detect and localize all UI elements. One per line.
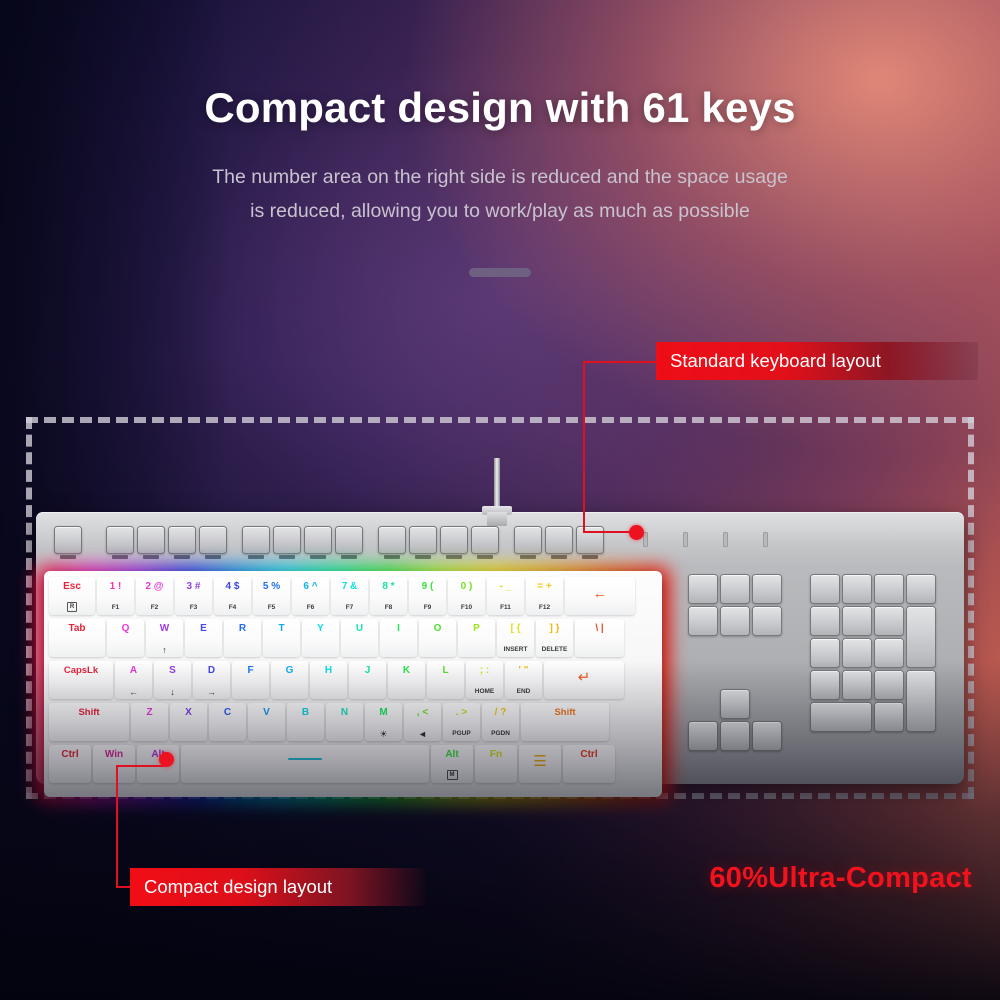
key-sublabel-glyph: ↓	[154, 687, 191, 697]
compact-keyboard: EscR1 !F12 @F23 #F34 $F45 %F56 ^F67 &F78…	[44, 571, 662, 797]
key-label: 3 #	[175, 581, 212, 592]
key-l[interactable]: L	[427, 661, 464, 699]
full-size-key	[810, 606, 840, 636]
full-size-key	[168, 526, 196, 554]
key-a[interactable]: A←	[115, 661, 152, 699]
key-sublabel: F4	[214, 604, 251, 612]
leader-compact-horizontal-2	[116, 765, 164, 767]
key-alt[interactable]: Alt	[137, 745, 179, 783]
key-glyph: ←	[565, 586, 635, 602]
key-label: Win	[93, 749, 135, 760]
key-stem	[582, 555, 599, 559]
key-[interactable]: / ?PGDN	[482, 703, 519, 741]
key-sublabel: F10	[448, 604, 485, 612]
key-label: ] }	[536, 623, 573, 634]
key-ctrl[interactable]: Ctrl	[563, 745, 615, 783]
key-label: T	[263, 623, 300, 634]
key-label: V	[248, 707, 285, 718]
full-size-key	[720, 689, 750, 719]
key-stem	[310, 555, 327, 559]
full-size-key	[842, 606, 872, 636]
key-3[interactable]: 3 #F3	[175, 577, 212, 615]
full-size-key	[688, 721, 718, 751]
key-label: S	[154, 665, 191, 676]
full-size-key	[810, 638, 840, 668]
full-size-key	[752, 721, 782, 751]
key-label: 2 @	[136, 581, 173, 592]
key-stem	[415, 555, 432, 559]
key-stem	[477, 555, 494, 559]
key-sublabel: R	[49, 602, 95, 612]
full-size-key	[273, 526, 301, 554]
key-shift[interactable]: Shift	[521, 703, 609, 741]
key-sublabel: F1	[97, 604, 134, 612]
full-size-key	[54, 526, 82, 554]
key-label: 9 (	[409, 581, 446, 592]
key-m[interactable]: M☀	[365, 703, 402, 741]
key-8[interactable]: 8 *F8	[370, 577, 407, 615]
full-size-key	[440, 526, 468, 554]
keyboard-row: CapsLkA←S↓D→FGHJKL; :HOME' "END↵	[49, 661, 657, 701]
key-b[interactable]: B	[287, 703, 324, 741]
full-size-key	[810, 670, 840, 700]
key-sublabel-glyph: ↑	[146, 645, 183, 655]
subtitle-line-2: is reduced, allowing you to work/play as…	[0, 194, 1000, 228]
full-size-key	[242, 526, 270, 554]
key-c[interactable]: C	[209, 703, 246, 741]
subtitle-line-1: The number area on the right side is red…	[0, 160, 1000, 194]
key-sublabel: INSERT	[497, 646, 534, 654]
key-v[interactable]: V	[248, 703, 285, 741]
key-[interactable]: \ |	[575, 619, 624, 657]
key-sublabel-glyph: →	[193, 687, 230, 697]
key-label: G	[271, 665, 308, 676]
key-stem	[112, 555, 129, 559]
full-size-key	[842, 574, 872, 604]
callout-compact-design-layout: Compact design layout	[130, 868, 426, 906]
key-tab[interactable]: Tab	[49, 619, 105, 657]
key-label: D	[193, 665, 230, 676]
key-sublabel: F6	[292, 604, 329, 612]
key-label: 5 %	[253, 581, 290, 592]
key-label: M	[365, 707, 402, 718]
key-label: - _	[487, 581, 524, 592]
key-p[interactable]: P	[458, 619, 495, 657]
key-glyph[interactable]: ☰	[519, 745, 561, 783]
key-label: F	[232, 665, 269, 676]
key-i[interactable]: I	[380, 619, 417, 657]
key-label: 0 )	[448, 581, 485, 592]
key-[interactable]: , <◄	[404, 703, 441, 741]
key-ctrl[interactable]: Ctrl	[49, 745, 91, 783]
key-x[interactable]: X	[170, 703, 207, 741]
key-sublabel: HOME	[466, 688, 503, 696]
key-g[interactable]: G	[271, 661, 308, 699]
leader-compact-horizontal	[116, 886, 132, 888]
key-[interactable]: ] }DELETE	[536, 619, 573, 657]
key-label: 1 !	[97, 581, 134, 592]
key-sublabel: F7	[331, 604, 368, 612]
leader-standard-horizontal-2	[583, 531, 633, 533]
indicator-led	[723, 532, 728, 547]
key-label: 8 *	[370, 581, 407, 592]
key-label: I	[380, 623, 417, 634]
key-label: Fn	[475, 749, 517, 760]
key-label: L	[427, 665, 464, 676]
key-u[interactable]: U	[341, 619, 378, 657]
key-label: . >	[443, 707, 480, 718]
key-label: , <	[404, 707, 441, 718]
key-f[interactable]: F	[232, 661, 269, 699]
key-label: A	[115, 665, 152, 676]
full-size-key	[137, 526, 165, 554]
key-w[interactable]: W↑	[146, 619, 183, 657]
leader-compact-vertical	[116, 765, 118, 888]
key-label: Ctrl	[49, 749, 91, 760]
key-stem	[248, 555, 265, 559]
key-label: N	[326, 707, 363, 718]
full-size-key	[545, 526, 573, 554]
key-[interactable]: . >PGUP	[443, 703, 480, 741]
key-label: 7 &	[331, 581, 368, 592]
full-size-key	[378, 526, 406, 554]
key-9[interactable]: 9 (F9	[409, 577, 446, 615]
key-label: 4 $	[214, 581, 251, 592]
key-sublabel: F8	[370, 604, 407, 612]
key-y[interactable]: Y	[302, 619, 339, 657]
full-size-key	[874, 702, 904, 732]
full-size-key	[874, 638, 904, 668]
key-sublabel-glyph: ◄	[404, 729, 441, 739]
key-sublabel: M	[431, 770, 473, 780]
full-size-key	[842, 638, 872, 668]
key-stem	[279, 555, 296, 559]
full-size-key	[688, 574, 718, 604]
spacebar-indicator	[288, 758, 322, 760]
key-label: P	[458, 623, 495, 634]
key-space[interactable]	[181, 745, 429, 783]
key-z[interactable]: Z	[131, 703, 168, 741]
full-size-key	[199, 526, 227, 554]
key-label: J	[349, 665, 386, 676]
full-size-key	[720, 574, 750, 604]
leader-standard-horizontal	[583, 361, 657, 363]
key-sublabel-glyph: ☀	[365, 729, 402, 739]
keyboard-rows: EscR1 !F12 @F23 #F34 $F45 %F56 ^F67 &F78…	[49, 577, 657, 791]
full-size-key	[720, 721, 750, 751]
full-size-key	[874, 606, 904, 636]
key-stem	[60, 555, 77, 559]
key-fn[interactable]: Fn	[475, 745, 517, 783]
key-label: = +	[526, 581, 563, 592]
cable-plug	[487, 512, 507, 526]
key-sublabel: PGDN	[482, 730, 519, 738]
key-sublabel: F3	[175, 604, 212, 612]
keyboard-row: EscR1 !F12 @F23 #F34 $F45 %F56 ^F67 &F78…	[49, 577, 657, 617]
key-stem	[551, 555, 568, 559]
key-sublabel: F2	[136, 604, 173, 612]
key-5[interactable]: 5 %F5	[253, 577, 290, 615]
full-size-key	[842, 670, 872, 700]
full-size-key	[810, 702, 872, 732]
keyboard-row: TabQW↑ERTYUIOP[ {INSERT] }DELETE\ |	[49, 619, 657, 659]
full-size-key	[874, 670, 904, 700]
key-[interactable]: ; :HOME	[466, 661, 503, 699]
key-label: K	[388, 665, 425, 676]
key-label: \ |	[575, 623, 624, 634]
key-sublabel: END	[505, 688, 542, 696]
key-glyph: ☰	[519, 754, 561, 770]
leader-standard-vertical	[583, 361, 585, 533]
key-stem	[174, 555, 191, 559]
key-glyph[interactable]: ←	[565, 577, 635, 615]
key-stem	[384, 555, 401, 559]
key-win[interactable]: Win	[93, 745, 135, 783]
key-stem	[205, 555, 222, 559]
key-0[interactable]: 0 )F10	[448, 577, 485, 615]
key-label: ' "	[505, 665, 542, 676]
key-e[interactable]: E	[185, 619, 222, 657]
key-alt[interactable]: AltM	[431, 745, 473, 783]
key-sublabel: F5	[253, 604, 290, 612]
callout-standard-keyboard-layout: Standard keyboard layout	[656, 342, 978, 380]
key-label: Shift	[49, 707, 129, 718]
key-j[interactable]: J	[349, 661, 386, 699]
key-label: Z	[131, 707, 168, 718]
key-6[interactable]: 6 ^F6	[292, 577, 329, 615]
key-glyph: ↵	[544, 670, 624, 686]
key-sublabel: F11	[487, 604, 524, 612]
key-label: Y	[302, 623, 339, 634]
key-label: CapsLk	[49, 665, 113, 676]
indicator-led	[763, 532, 768, 547]
key-glyph[interactable]: ↵	[544, 661, 624, 699]
full-size-key	[304, 526, 332, 554]
key-d[interactable]: D→	[193, 661, 230, 699]
product-banner: Compact design with 61 keys The number a…	[0, 0, 1000, 1000]
key-label: C	[209, 707, 246, 718]
full-size-key	[720, 606, 750, 636]
key-7[interactable]: 7 &F7	[331, 577, 368, 615]
key-1[interactable]: 1 !F1	[97, 577, 134, 615]
key-sublabel: F9	[409, 604, 446, 612]
key-2[interactable]: 2 @F2	[136, 577, 173, 615]
full-size-key	[906, 670, 936, 732]
key-sublabel: DELETE	[536, 646, 573, 654]
key-label: / ?	[482, 707, 519, 718]
key-label: Esc	[49, 581, 95, 592]
dashed-boundary-right	[968, 417, 974, 799]
callout-dot-standard	[629, 525, 644, 540]
full-size-key	[409, 526, 437, 554]
key-[interactable]: ' "END	[505, 661, 542, 699]
full-size-key	[688, 606, 718, 636]
key-s[interactable]: S↓	[154, 661, 191, 699]
key-label: B	[287, 707, 324, 718]
key-stem	[446, 555, 463, 559]
key-label: R	[224, 623, 261, 634]
page-subtitle: The number area on the right side is red…	[0, 160, 1000, 228]
full-size-key	[514, 526, 542, 554]
key-4[interactable]: 4 $F4	[214, 577, 251, 615]
divider-pill	[469, 268, 531, 277]
key-sublabel: F12	[526, 604, 563, 612]
key-label: Alt	[431, 749, 473, 760]
key-esc[interactable]: EscR	[49, 577, 95, 615]
page-title: Compact design with 61 keys	[0, 84, 1000, 132]
full-size-key	[335, 526, 363, 554]
key-o[interactable]: O	[419, 619, 456, 657]
key-label: Ctrl	[563, 749, 615, 760]
full-size-key	[752, 606, 782, 636]
key-[interactable]: = +F12	[526, 577, 563, 615]
key-q[interactable]: Q	[107, 619, 144, 657]
key-capslk[interactable]: CapsLk	[49, 661, 113, 699]
key-shift[interactable]: Shift	[49, 703, 129, 741]
key-label: H	[310, 665, 347, 676]
key-label: Tab	[49, 623, 105, 634]
key-[interactable]: [ {INSERT	[497, 619, 534, 657]
full-size-key	[906, 606, 936, 668]
callout-dot-compact	[159, 752, 174, 767]
key-r[interactable]: R	[224, 619, 261, 657]
ultra-compact-label: 60%Ultra-Compact	[709, 862, 972, 895]
full-size-key	[106, 526, 134, 554]
key-[interactable]: - _F11	[487, 577, 524, 615]
key-label: [ {	[497, 623, 534, 634]
key-label: O	[419, 623, 456, 634]
heading-block: Compact design with 61 keys The number a…	[0, 84, 1000, 228]
full-size-key	[471, 526, 499, 554]
key-n[interactable]: N	[326, 703, 363, 741]
indicator-led	[683, 532, 688, 547]
full-size-key	[810, 574, 840, 604]
key-stem	[520, 555, 537, 559]
key-label: Q	[107, 623, 144, 634]
key-stem	[143, 555, 160, 559]
key-label: X	[170, 707, 207, 718]
key-k[interactable]: K	[388, 661, 425, 699]
full-size-key	[906, 574, 936, 604]
full-size-key	[874, 574, 904, 604]
key-label: ; :	[466, 665, 503, 676]
key-sublabel-glyph: ←	[115, 687, 152, 697]
key-label: U	[341, 623, 378, 634]
key-label: W	[146, 623, 183, 634]
key-label: E	[185, 623, 222, 634]
full-size-key	[752, 574, 782, 604]
key-label: 6 ^	[292, 581, 329, 592]
key-label: Shift	[521, 707, 609, 718]
key-sublabel: PGUP	[443, 730, 480, 738]
key-t[interactable]: T	[263, 619, 300, 657]
keyboard-row: ShiftZXCVBNM☀, <◄. >PGUP/ ?PGDNShift	[49, 703, 657, 743]
key-h[interactable]: H	[310, 661, 347, 699]
key-stem	[341, 555, 358, 559]
dashed-boundary-left	[26, 417, 32, 799]
